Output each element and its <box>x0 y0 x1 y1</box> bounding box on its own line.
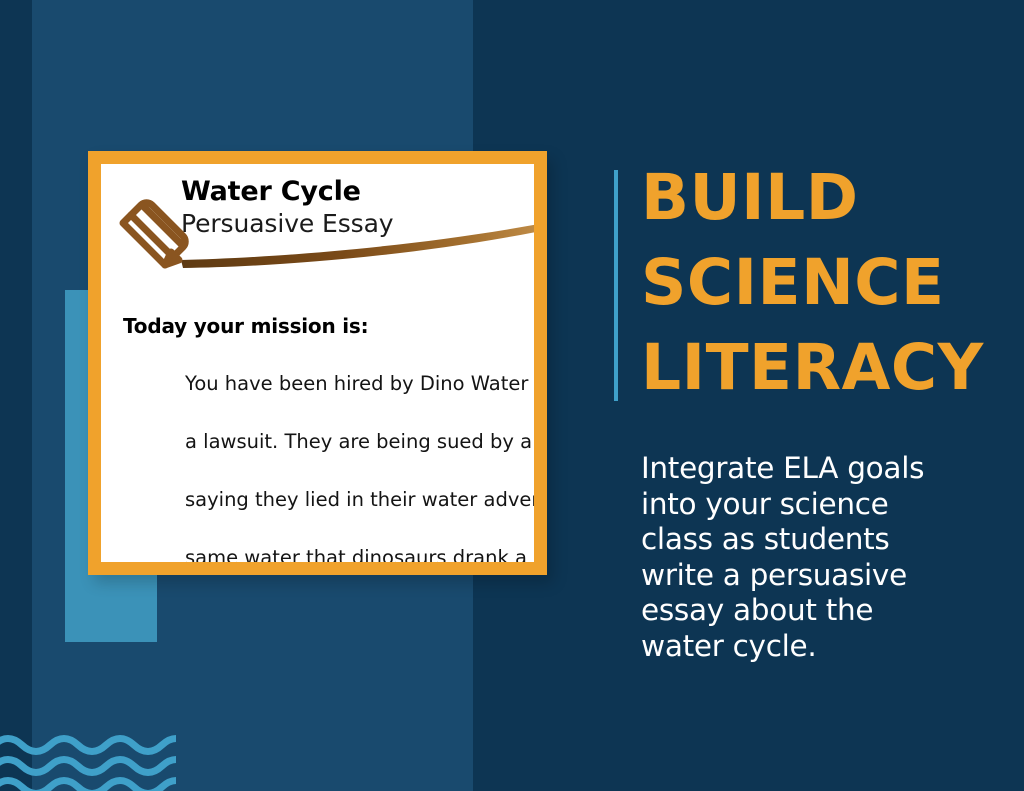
pencil-icon <box>107 196 534 282</box>
page-subtitle: Integrate ELA goals into your science cl… <box>641 451 1021 664</box>
mission-heading: Today your mission is: <box>123 314 534 338</box>
subcopy-line-6: water cycle. <box>641 629 1021 665</box>
subcopy-line-1: Integrate ELA goals <box>641 451 1021 487</box>
vertical-accent-rule <box>614 170 618 401</box>
paragraph-line: a lawsuit. They are being sued by a <box>185 430 534 453</box>
worksheet-body: Today your mission is: You have been hir… <box>123 314 534 562</box>
pencil-stroke-icon <box>181 224 534 268</box>
subcopy-line-5: essay about the <box>641 593 1021 629</box>
headline-line-2: SCIENCE <box>641 240 1024 325</box>
page-title: BUILD SCIENCE LITERACY <box>641 155 1024 410</box>
headline-line-3: LITERACY <box>641 325 1024 410</box>
paragraph-line: saying they lied in their water advert <box>185 488 534 511</box>
worksheet-header: Water Cycle Persuasive Essay <box>101 164 534 282</box>
subcopy-line-4: write a persuasive <box>641 558 1021 594</box>
mission-paragraph-1: You have been hired by Dino Water t a la… <box>123 340 534 562</box>
subcopy-line-3: class as students <box>641 522 1021 558</box>
headline-line-1: BUILD <box>641 155 1024 240</box>
slide-canvas: Water Cycle Persuasive Essay <box>0 0 1024 791</box>
worksheet-page: Water Cycle Persuasive Essay <box>101 164 534 562</box>
worksheet-card[interactable]: Water Cycle Persuasive Essay <box>88 151 547 575</box>
paragraph-line: same water that dinosaurs drank a b <box>185 546 534 562</box>
wave-lines-decoration <box>0 731 176 791</box>
paragraph-line: You have been hired by Dino Water t <box>185 372 534 395</box>
subcopy-line-2: into your science <box>641 487 1021 523</box>
